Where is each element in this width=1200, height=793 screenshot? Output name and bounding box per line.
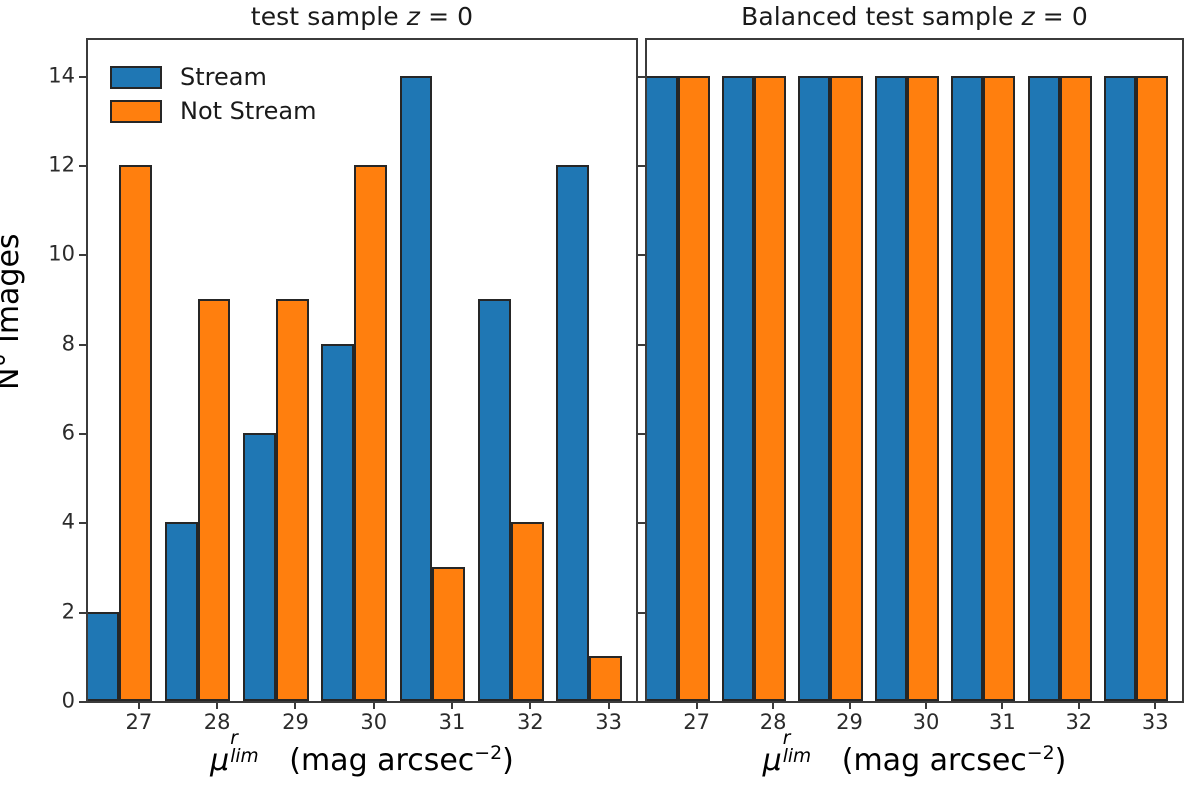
x-tick-label: 30 — [360, 712, 387, 733]
y-tick: 6 — [88, 433, 89, 434]
bar-not-stream — [511, 522, 544, 701]
mu-subscript-right: lim — [783, 748, 811, 767]
x-tick-mark — [138, 701, 140, 709]
x-tick-mark — [925, 701, 927, 709]
bar-stream — [478, 299, 511, 701]
y-tick — [647, 344, 648, 345]
mu-indices-right: rlim — [783, 740, 833, 770]
panel-title-right-suffix: = 0 — [1035, 2, 1088, 31]
panel-title-left: test sample z = 0 — [86, 2, 638, 31]
bar-not-stream — [1060, 76, 1092, 701]
y-tick-label: 12 — [48, 155, 75, 176]
mu-subscript-left: lim — [230, 748, 258, 767]
bar-stream — [875, 76, 907, 701]
x-tick-mark — [1154, 701, 1156, 709]
bar-not-stream — [754, 76, 786, 701]
x-tick-label: 30 — [913, 712, 940, 733]
y-tick-mark — [79, 165, 87, 167]
y-tick: 10 — [88, 254, 89, 255]
x-tick-label: 31 — [439, 712, 466, 733]
x-tick-label: 32 — [1065, 712, 1092, 733]
y-tick-mark — [638, 612, 646, 614]
x-axis-label-left: μrlim (mag arcsec−2) — [86, 740, 638, 776]
x-tick-mark — [608, 701, 610, 709]
x-tick-mark — [849, 701, 851, 709]
y-tick-label: 14 — [48, 65, 75, 86]
x-tick-label: 31 — [989, 712, 1016, 733]
bar-not-stream — [1136, 76, 1168, 701]
x-axis-label-right-units: (mag arcsec — [832, 743, 1027, 778]
x-tick-mark — [1078, 701, 1080, 709]
mu-symbol-right: μ — [763, 743, 782, 778]
x-tick-mark — [772, 701, 774, 709]
y-tick-label: 6 — [62, 423, 75, 444]
x-tick-label: 29 — [836, 712, 863, 733]
x-tick-mark — [451, 701, 453, 709]
legend-item-not-stream[interactable]: Not Stream — [110, 94, 340, 128]
plot-axes-left: 02468101214 27282930313233 Stream Not St… — [86, 38, 638, 703]
x-axis-label-left-units: (mag arcsec — [280, 743, 475, 778]
bar-not-stream — [119, 165, 152, 701]
y-tick — [647, 76, 648, 77]
panel-title-left-suffix: = 0 — [420, 2, 473, 31]
bar-stream — [400, 76, 433, 701]
bar-not-stream — [678, 76, 710, 701]
x-tick-label: 27 — [683, 712, 710, 733]
panel-title-right: Balanced test sample z = 0 — [645, 2, 1184, 31]
legend-swatch-not-stream-icon — [110, 100, 162, 123]
plot-axes-right: 27282930313233 — [645, 38, 1184, 703]
x-axis-label-right-paren: ) — [1055, 743, 1067, 778]
bar-stream — [321, 344, 354, 701]
y-tick — [647, 612, 648, 613]
legend-label-not-stream: Not Stream — [180, 99, 317, 123]
y-tick-mark — [638, 433, 646, 435]
legend: Stream Not Stream — [110, 60, 340, 128]
x-tick-mark — [529, 701, 531, 709]
x-axis-label-right-exponent: −2 — [1027, 742, 1055, 764]
bar-stream — [243, 433, 276, 701]
x-tick-label: 32 — [517, 712, 544, 733]
x-tick-mark — [373, 701, 375, 709]
y-tick-mark — [638, 344, 646, 346]
y-tick-mark — [79, 344, 87, 346]
y-tick: 8 — [88, 344, 89, 345]
y-tick-mark — [79, 76, 87, 78]
x-tick-label: 33 — [595, 712, 622, 733]
bar-not-stream — [198, 299, 231, 701]
y-tick — [647, 433, 648, 434]
mu-symbol-left: μ — [210, 743, 229, 778]
plot-area-right — [647, 40, 1182, 701]
panel-title-left-prefix: test sample — [251, 2, 407, 31]
x-axis-label-left-mu-expression: μrlim — [210, 740, 280, 776]
y-tick-mark — [638, 76, 646, 78]
y-tick-label: 8 — [62, 333, 75, 354]
x-axis-label-right-mu-expression: μrlim — [763, 740, 833, 776]
y-tick-mark — [638, 254, 646, 256]
x-tick-mark — [696, 701, 698, 709]
bar-not-stream — [907, 76, 939, 701]
panel-title-left-variable: z — [407, 2, 420, 31]
y-tick — [647, 254, 648, 255]
x-tick-mark — [216, 701, 218, 709]
bar-stream — [647, 76, 678, 701]
y-tick-mark — [79, 612, 87, 614]
bar-stream — [722, 76, 754, 701]
y-tick: 4 — [88, 522, 89, 523]
plot-area-left — [88, 40, 636, 701]
x-tick-mark — [1001, 701, 1003, 709]
x-axis-label-right: μrlim (mag arcsec−2) — [645, 740, 1184, 776]
y-tick — [647, 165, 648, 166]
bar-stream — [88, 612, 119, 701]
x-tick-mark — [294, 701, 296, 709]
figure-canvas: test sample z = 0 Balanced test sample z… — [0, 0, 1200, 793]
y-tick: 0 — [88, 701, 89, 702]
x-axis-label-left-paren: ) — [502, 743, 514, 778]
y-tick-label: 10 — [48, 244, 75, 265]
bar-stream — [165, 522, 198, 701]
x-tick-label: 33 — [1142, 712, 1169, 733]
panel-title-right-prefix: Balanced test sample — [741, 2, 1021, 31]
y-tick-label: 4 — [62, 512, 75, 533]
bar-stream — [556, 165, 589, 701]
legend-item-stream[interactable]: Stream — [110, 60, 340, 94]
y-tick-mark — [638, 165, 646, 167]
y-tick-label: 0 — [62, 691, 75, 712]
bar-stream — [1104, 76, 1136, 701]
legend-label-stream: Stream — [180, 65, 267, 89]
x-axis-label-left-exponent: −2 — [474, 742, 502, 764]
y-tick-label: 2 — [62, 601, 75, 622]
y-tick — [647, 701, 648, 702]
bar-not-stream — [276, 299, 309, 701]
bar-stream — [951, 76, 983, 701]
x-tick-label: 29 — [282, 712, 309, 733]
bar-not-stream — [830, 76, 862, 701]
y-tick-mark — [79, 433, 87, 435]
y-tick-mark — [638, 701, 646, 703]
y-tick — [647, 522, 648, 523]
y-tick-mark — [638, 522, 646, 524]
y-tick: 2 — [88, 612, 89, 613]
mu-indices-left: rlim — [230, 740, 280, 770]
x-tick-label: 27 — [126, 712, 153, 733]
y-tick-mark — [79, 522, 87, 524]
bar-not-stream — [983, 76, 1015, 701]
legend-swatch-stream-icon — [110, 66, 162, 89]
y-tick-mark — [79, 701, 87, 703]
y-tick-mark — [79, 254, 87, 256]
bar-stream — [798, 76, 830, 701]
bar-not-stream — [432, 567, 465, 701]
bar-not-stream — [354, 165, 387, 701]
y-tick: 12 — [88, 165, 89, 166]
y-axis-label: N° Images — [0, 233, 24, 390]
bar-stream — [1028, 76, 1060, 701]
x-tick-label: 28 — [204, 712, 231, 733]
bar-not-stream — [589, 656, 622, 701]
panel-title-right-variable: z — [1022, 2, 1035, 31]
y-tick: 14 — [88, 76, 89, 77]
